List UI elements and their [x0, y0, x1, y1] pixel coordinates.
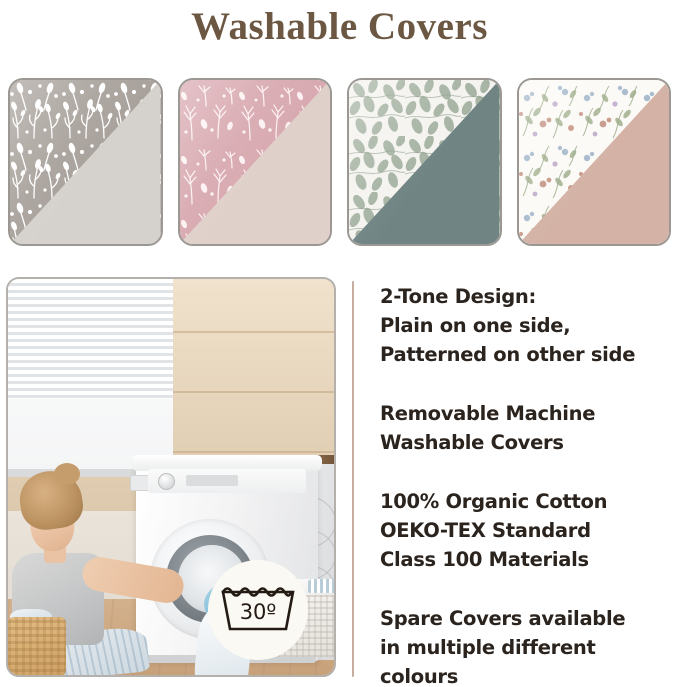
window-blinds	[8, 279, 173, 399]
feature-line: OEKO-TEX Standard	[380, 516, 672, 545]
wicker-basket	[8, 617, 66, 677]
feature-two-tone-design: 2-Tone Design: Plain on one side, Patter…	[380, 282, 672, 369]
feature-line: in multiple different	[380, 633, 672, 662]
striped-towel	[308, 579, 336, 593]
feature-line: Removable Machine	[380, 399, 672, 428]
feature-organic-cotton: 100% Organic Cotton OEKO-TEX Standard Cl…	[380, 487, 672, 574]
feature-line: 2-Tone Design:	[380, 282, 672, 311]
wash-care-badge: 30º	[208, 560, 308, 660]
swatch-tile-2[interactable]	[178, 78, 333, 246]
page-title: Washable Covers	[0, 4, 679, 50]
woman-hair-bun	[54, 463, 80, 485]
feature-list: 2-Tone Design: Plain on one side, Patter…	[380, 282, 672, 687]
swatch-tile-3[interactable]	[347, 78, 502, 246]
feature-line: Washable Covers	[380, 428, 672, 457]
feature-line: Patterned on other side	[380, 340, 672, 369]
swatch-row	[8, 78, 671, 246]
feature-line: Plain on one side,	[380, 311, 672, 340]
vertical-divider	[352, 281, 354, 677]
feature-line: 100% Organic Cotton	[380, 487, 672, 516]
feature-spare-covers: Spare Covers available in multiple diffe…	[380, 604, 672, 687]
wash-tub-icon: 30º	[217, 579, 299, 641]
feature-line: Class 100 Materials	[380, 545, 672, 574]
swatch-tile-4[interactable]	[517, 78, 672, 246]
feature-removable-covers: Removable Machine Washable Covers	[380, 399, 672, 457]
swatch-tile-1[interactable]	[8, 78, 163, 246]
infographic-page: Washable Covers	[0, 0, 679, 687]
feature-line: colours	[380, 662, 672, 687]
machine-dial	[158, 473, 175, 490]
machine-display	[186, 475, 238, 486]
wash-temperature-label: 30º	[240, 600, 277, 624]
feature-line: Spare Covers available	[380, 604, 672, 633]
